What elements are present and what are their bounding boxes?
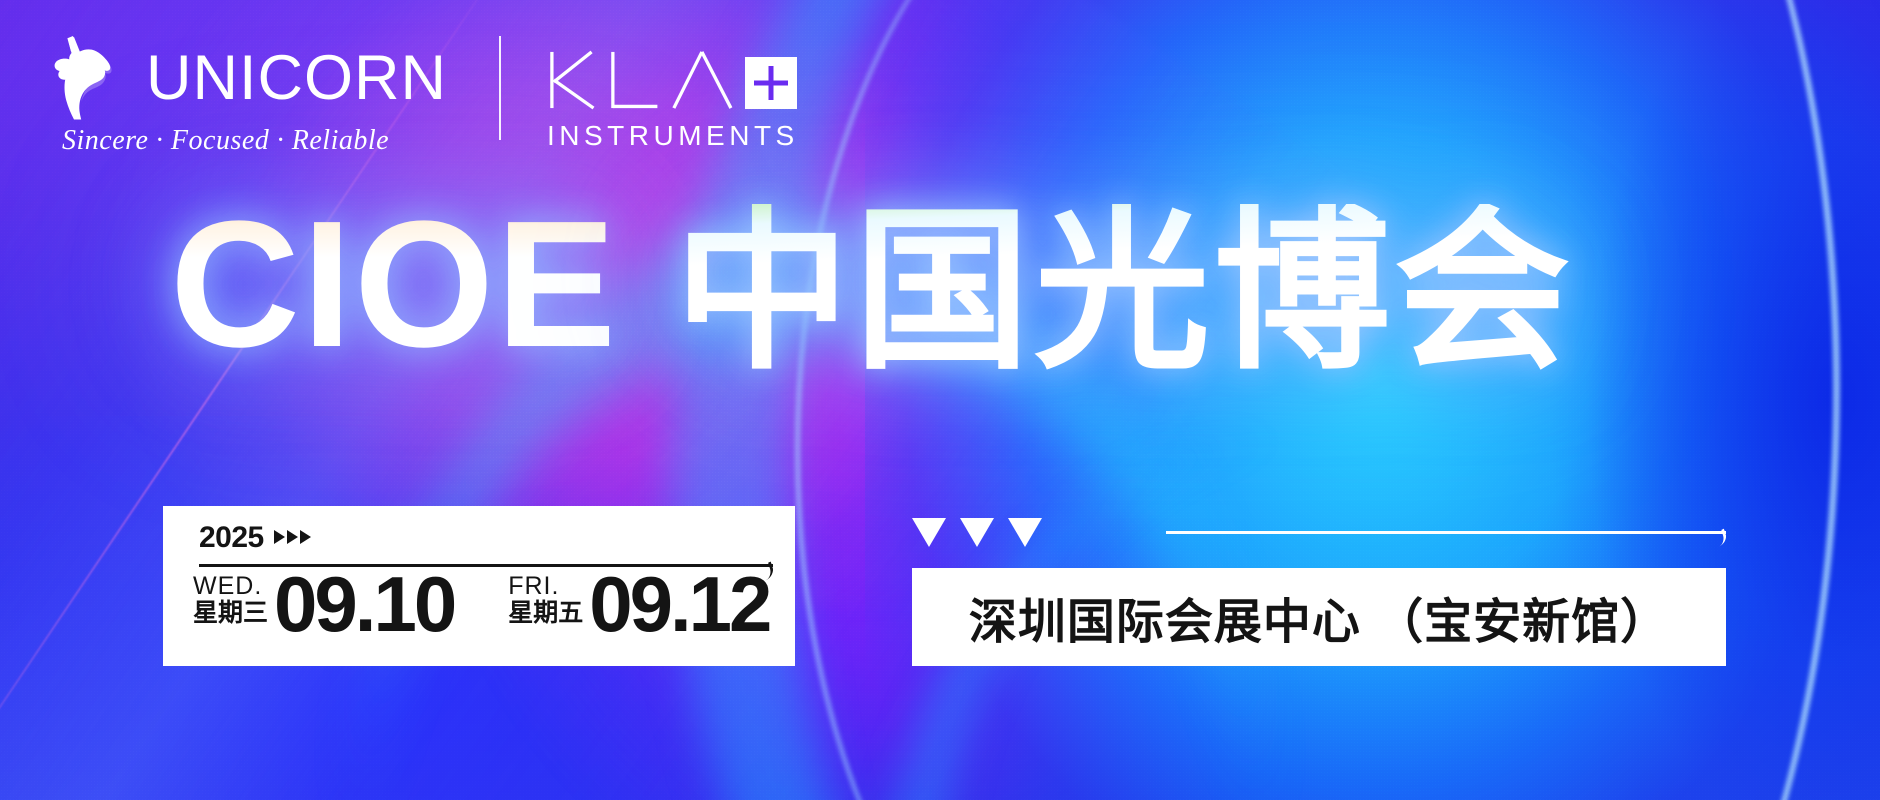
weekday-en: FRI. [508,573,559,599]
date-arrow-rule [199,564,773,567]
event-date-list: WED. 星期三 09.10 FRI. 星期五 09.12 [163,571,795,638]
venue-name-box: 深圳国际会展中心 （宝安新馆） [912,568,1726,666]
chevron-right-icon [287,530,298,544]
event-date-start-value: 09.10 [274,571,454,638]
kla-logo-top [549,48,797,110]
event-date-start-weekday: WED. 星期三 [193,573,268,627]
sponsor-logo-row: UNICORN Sincere · Focused · Reliable [48,26,799,166]
venue-arrow-rule [1166,531,1726,534]
weekday-en: WED. [193,573,262,599]
event-date-end-weekday: FRI. 星期五 [508,573,583,627]
chevron-right-icon [300,530,311,544]
unicorn-logo-top: UNICORN [48,35,447,121]
unicorn-head-icon [48,35,142,121]
unicorn-tagline: Sincere · Focused · Reliable [62,125,389,157]
unicorn-wordmark: UNICORN [146,47,447,110]
event-title: CIOE 中国光博会 [0,198,1880,380]
venue-decoration-row [912,512,1728,552]
event-date-end-value: 09.12 [589,571,769,638]
event-title-english: CIOE [170,198,618,373]
weekday-cn: 星期五 [508,600,583,628]
event-date-end: FRI. 星期五 09.12 [508,571,769,638]
triangle-down-icon [912,518,946,547]
kla-wordmark-icon [549,50,739,110]
cioe-event-banner: UNICORN Sincere · Focused · Reliable [0,0,1880,800]
kla-logo: INSTRUMENTS [547,48,799,152]
triangle-down-icon [1008,518,1042,547]
logo-divider [499,36,501,140]
kla-subtitle: INSTRUMENTS [547,120,799,152]
kla-plus-icon [745,57,797,109]
weekday-cn: 星期三 [193,600,268,628]
event-date-panel: 2025 WED. 星期三 09.10 FRI. 星期五 [163,506,795,666]
triangle-down-icon [960,518,994,547]
venue-name: 深圳国际会展中心 （宝安新馆） [969,582,1669,652]
event-venue: 深圳国际会展中心 （宝安新馆） [912,512,1728,666]
event-year-row: 2025 [163,520,795,556]
event-title-chinese: 中国光博会 [674,204,1574,380]
unicorn-logo: UNICORN Sincere · Focused · Reliable [48,35,447,157]
chevron-right-icon [274,530,285,544]
event-year: 2025 [199,523,264,553]
chevron-right-icons [272,530,311,544]
event-date-start: WED. 星期三 09.10 [193,571,454,638]
